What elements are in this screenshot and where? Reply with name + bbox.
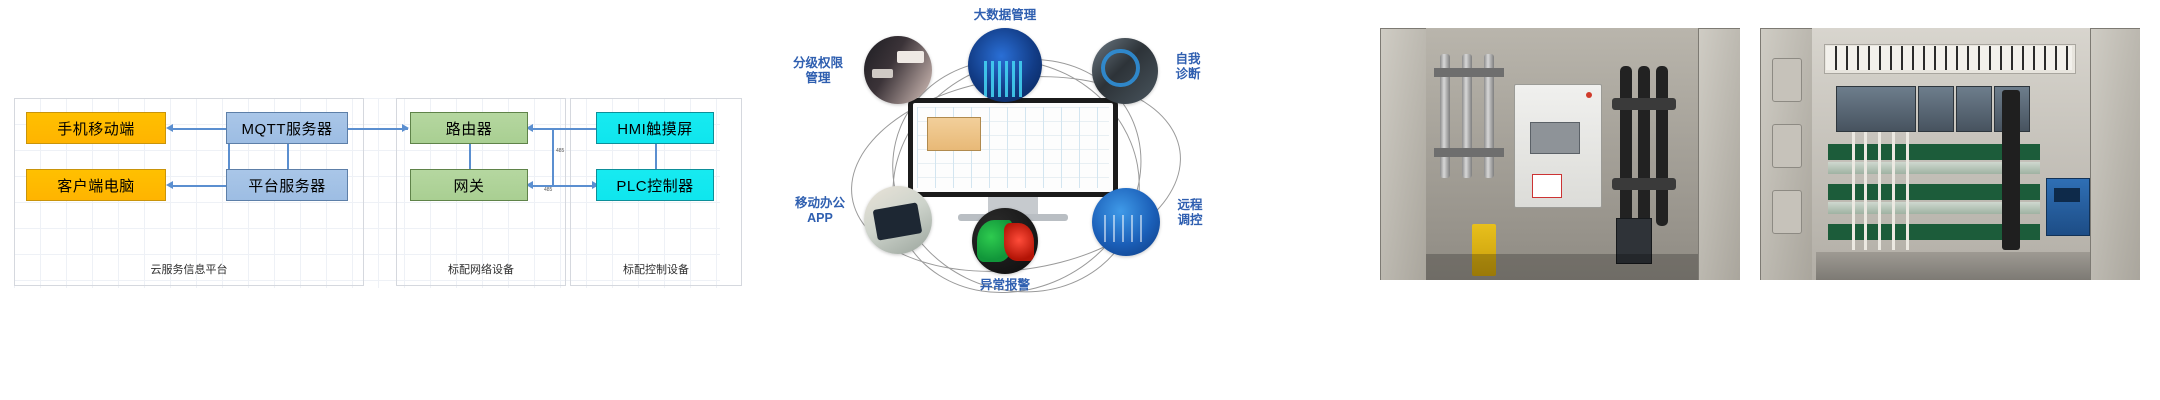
hub-label-remote-line2: 调控 <box>1162 213 1218 228</box>
group-control-caption: 标配控制设备 <box>571 261 741 277</box>
hub-label-remote-line1: 远程 <box>1162 198 1218 213</box>
hub-label-app: 移动办公 APP <box>780 196 860 226</box>
node-client-pc[interactable]: 客户端电脑 <box>26 169 166 201</box>
node-hmi-touchscreen-label: HMI触摸屏 <box>617 118 693 139</box>
hub-label-selfdiag-line2: 诊断 <box>1160 67 1216 82</box>
hub-label-app-line2: APP <box>780 211 860 226</box>
cabinet-door-left <box>1380 28 1428 280</box>
hub-label-bigdata: 大数据管理 <box>953 8 1057 23</box>
edge-mqtt-to-router <box>344 128 408 130</box>
group-network-caption: 标配网络设备 <box>397 261 565 277</box>
cable-hose-1 <box>1620 66 1632 226</box>
capability-hub-diagram: 大数据管理 自我 诊断 远程 调控 异常报警 移动办公 APP 分级权限 管理 <box>740 0 1360 400</box>
cable-trunk <box>2002 90 2020 250</box>
alarm-icon[interactable] <box>972 208 1038 274</box>
edge-bus-to-clientpc <box>172 185 230 187</box>
globe-icon[interactable] <box>1092 188 1160 256</box>
cable-hose-2 <box>1638 66 1650 226</box>
node-mqtt-server[interactable]: MQTT服务器 <box>226 112 348 144</box>
breaker-row-top <box>1826 46 2072 70</box>
door-cutout-1 <box>1772 58 1802 102</box>
edge-label-485-gateway: 485 <box>544 187 552 193</box>
node-client-pc-label: 客户端电脑 <box>57 175 135 196</box>
control-cabinet-photo-wiring <box>1760 28 2140 280</box>
warning-label <box>1532 174 1562 198</box>
pipe-bracket-top <box>1434 68 1504 77</box>
hub-label-permission: 分级权限 管理 <box>776 56 860 86</box>
node-mobile-client-label: 手机移动端 <box>57 118 135 139</box>
arrow-right-router <box>402 124 409 132</box>
cable-hose-3 <box>1656 66 1668 226</box>
plc-io-module-1 <box>1918 86 1954 132</box>
edge-mqtt-to-mobile <box>172 128 230 130</box>
stethoscope-icon[interactable] <box>1092 38 1158 104</box>
levels-icon[interactable] <box>864 36 932 104</box>
wire-bundle-5 <box>1906 132 1909 250</box>
node-gateway-label: 网关 <box>453 175 484 196</box>
edge-router-to-hmi-bus <box>530 128 600 130</box>
edge-485-riser <box>552 128 554 185</box>
door-cutout-3 <box>1772 190 1802 234</box>
arrow-left-clientpc <box>166 181 173 189</box>
hose-clamp-bottom <box>1612 178 1676 190</box>
hub-label-selfdiag: 自我 诊断 <box>1160 52 1216 82</box>
door-cutout-2 <box>1772 124 1802 168</box>
scada-schematic <box>913 103 1113 192</box>
bigdata-icon[interactable] <box>968 28 1042 102</box>
group-cloud-caption: 云服务信息平台 <box>15 261 363 277</box>
node-platform-server-label: 平台服务器 <box>248 175 326 196</box>
hub-label-selfdiag-line1: 自我 <box>1160 52 1216 67</box>
inverter-display <box>1530 122 1580 154</box>
edge-label-485-riser: 485 <box>556 148 564 154</box>
pipe-bracket-bottom <box>1434 148 1504 157</box>
cabinet-door-right <box>1698 28 1740 280</box>
hub-label-app-line1: 移动办公 <box>780 196 860 211</box>
hub-label-remote: 远程 调控 <box>1162 198 1218 228</box>
architecture-diagram: 云服务信息平台 标配网络设备 标配控制设备 <box>0 0 740 400</box>
node-router[interactable]: 路由器 <box>410 112 528 144</box>
node-plc-controller-label: PLC控制器 <box>616 175 693 196</box>
arrow-left-mobile <box>166 124 173 132</box>
hub-label-permission-line2: 管理 <box>776 71 860 86</box>
plc-cpu-module <box>1836 86 1916 132</box>
wire-bundle-4 <box>1892 132 1895 250</box>
cabinet-door-right-2 <box>2090 28 2140 280</box>
wire-bundle-1 <box>1852 132 1855 250</box>
monitor-screen <box>908 98 1118 197</box>
wire-bundle-3 <box>1878 132 1881 250</box>
floor-shadow <box>1426 254 1698 280</box>
control-cabinet-photo-open-door <box>1380 28 1740 280</box>
plc-io-module-2 <box>1956 86 1992 132</box>
node-platform-server[interactable]: 平台服务器 <box>226 169 348 201</box>
cabinet-floor <box>1816 252 2090 280</box>
hub-label-permission-line1: 分级权限 <box>776 56 860 71</box>
node-router-label: 路由器 <box>446 118 493 139</box>
blue-drive-unit <box>2046 178 2090 236</box>
tablet-icon[interactable] <box>864 186 932 254</box>
hose-clamp-top <box>1612 98 1676 110</box>
node-mqtt-server-label: MQTT服务器 <box>242 118 333 139</box>
hub-label-alarm: 异常报警 <box>953 278 1057 293</box>
edge-gateway-plc <box>530 185 598 187</box>
node-mobile-client[interactable]: 手机移动端 <box>26 112 166 144</box>
node-plc-controller[interactable]: PLC控制器 <box>596 169 714 201</box>
node-hmi-touchscreen[interactable]: HMI触摸屏 <box>596 112 714 144</box>
wire-bundle-2 <box>1864 132 1867 250</box>
node-gateway[interactable]: 网关 <box>410 169 528 201</box>
screenshot-root: 云服务信息平台 标配网络设备 标配控制设备 <box>0 0 2160 400</box>
inverter-led <box>1586 92 1592 98</box>
blue-drive-display <box>2054 188 2080 202</box>
